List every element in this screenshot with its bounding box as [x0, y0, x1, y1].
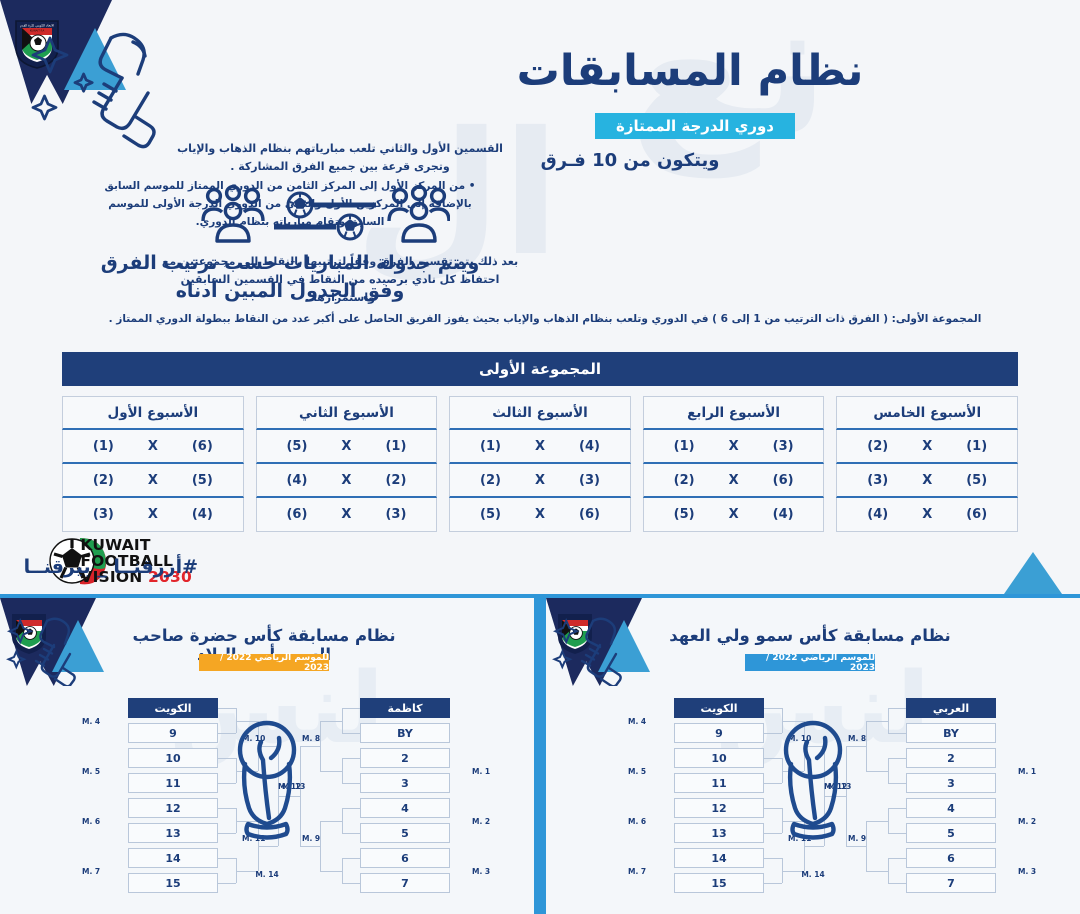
left-note-top: القسمين الأول والثاني تلعب مبارياتهم بنظ… [160, 140, 520, 176]
bracket-slot: BY [906, 723, 996, 743]
match-away: (2) [93, 473, 114, 488]
bracket-connector [342, 858, 343, 883]
match-home: (6) [192, 439, 213, 454]
bracket-connector [342, 708, 360, 709]
match-away: (6) [286, 507, 307, 522]
match-vs-symbol: X [535, 473, 545, 488]
panel-crown-prince-cup: لنس نظام مسابقة كأس سمو ولي العهدللموسم … [546, 598, 1080, 914]
bracket-connector [888, 708, 889, 733]
bracket-connector [888, 733, 906, 734]
match-row: (3)X(1) [643, 430, 825, 464]
week-column: الأسبوع الثاني(1)X(5)(2)X(4)(3)X(6) [256, 396, 438, 532]
bracket-connector [888, 708, 906, 709]
bracket-slot: 6 [906, 848, 996, 868]
bracket-slot: 3 [906, 773, 996, 793]
bracket-connector [342, 783, 360, 784]
bracket-slot: 2 [360, 748, 450, 768]
match-vs-symbol: X [341, 439, 351, 454]
panel-season-badge: للموسم الرياضي 2022 / 2023 [745, 654, 875, 671]
week-header: الأسبوع الثاني [256, 396, 438, 430]
group-header: المجموعة الأولى [62, 352, 1018, 386]
bracket-match-label: M. 9 [848, 834, 866, 843]
match-home: (3) [773, 439, 794, 454]
match-home: (6) [579, 507, 600, 522]
qualification-bullet-text: • من المركز الأول إلى المركز الثامن من ا… [90, 178, 490, 232]
match-away: (1) [93, 439, 114, 454]
bracket-connector [320, 721, 321, 771]
bracket-match-label: M. 1 [472, 767, 490, 776]
bracket-connector [888, 833, 906, 834]
bracket-connector [846, 746, 866, 747]
bracket-connector [866, 871, 888, 872]
match-home: (3) [579, 473, 600, 488]
match-row: (6)X(5) [449, 498, 631, 532]
week-column: الأسبوع الأول(6)X(1)(5)X(2)(4)X(3) [62, 396, 244, 532]
bracket-connector [888, 858, 889, 883]
match-row: (6)X(4) [836, 498, 1018, 532]
right-bracket: العربيBY234567M. 1M. 2M. 3M. 8M. 9M. 12 [546, 698, 1080, 914]
bracket-match-label: M. 1 [1018, 767, 1036, 776]
bracket-connector [888, 783, 906, 784]
match-away: (2) [480, 473, 501, 488]
bracket-slot: 4 [906, 798, 996, 818]
bracket-connector [866, 721, 888, 722]
bracket-slot: 2 [906, 748, 996, 768]
match-home: (6) [966, 507, 987, 522]
bracket-slot: BY [360, 723, 450, 743]
bracket-seed-team: كاظمة [360, 698, 450, 718]
bracket-connector [888, 758, 906, 759]
match-row: (1)X(5) [256, 430, 438, 464]
match-row: (3)X(6) [256, 498, 438, 532]
bracket-connector [342, 758, 360, 759]
panel-title: نظام مسابقة كأس سمو ولي العهد [660, 626, 960, 645]
teams-count-text: ويتكون من 10 فـرق [480, 150, 780, 171]
bracket-slot: 7 [360, 873, 450, 893]
bracket-connector [342, 708, 343, 733]
page-title: نظام المسابقات [410, 46, 970, 96]
week-header: الأسبوع الأول [62, 396, 244, 430]
week-header: الأسبوع الرابع [643, 396, 825, 430]
bracket-slot: 6 [360, 848, 450, 868]
match-vs-symbol: X [148, 439, 158, 454]
infographic-page: نع ال الاتحاد الكويتي لكرة القدم KUWAIT … [0, 0, 1080, 914]
match-away: (3) [93, 507, 114, 522]
match-row: (5)X(2) [62, 464, 244, 498]
bracket-connector [320, 721, 342, 722]
match-row: (3)X(2) [449, 464, 631, 498]
match-vs-symbol: X [729, 507, 739, 522]
fixtures-table: المجموعة الأولى الأسبوع الخامس(1)X(2)(5)… [62, 352, 1018, 532]
hashtag-text: #أزرقنــا _ بيرقنــا [24, 556, 198, 578]
premier-league-section: نع ال الاتحاد الكويتي لكرة القدم KUWAIT … [0, 0, 1080, 594]
bracket-connector [278, 796, 300, 797]
bracket-connector [342, 808, 343, 833]
blue-triangle-bottom-icon [1004, 552, 1062, 594]
match-away: (5) [480, 507, 501, 522]
bracket-connector [846, 846, 866, 847]
bracket-connector [320, 821, 321, 871]
bracket-match-label: M. 12 [278, 782, 301, 791]
match-away: (4) [286, 473, 307, 488]
bracket-connector [320, 871, 342, 872]
bracket-connector [846, 746, 847, 846]
bracket-connector [342, 858, 360, 859]
bracket-match-label: M. 2 [472, 817, 490, 826]
match-vs-symbol: X [922, 439, 932, 454]
match-home: (4) [192, 507, 213, 522]
trophy-icon [547, 612, 625, 686]
panel-amir-cup: لنس نظام مسابقة كأس حضرة صاحب السمو أمير… [0, 598, 534, 914]
bracket-slot: 3 [360, 773, 450, 793]
bracket-connector [342, 833, 360, 834]
match-home: (1) [966, 439, 987, 454]
bracket-match-label: M. 12 [824, 782, 847, 791]
panel-gap-divider [534, 598, 546, 914]
bracket-connector [866, 771, 888, 772]
match-away: (1) [480, 439, 501, 454]
week-column: الأسبوع الخامس(1)X(2)(5)X(3)(6)X(4) [836, 396, 1018, 532]
bracket-connector [866, 721, 867, 771]
bracket-connector [342, 808, 360, 809]
match-vs-symbol: X [341, 473, 351, 488]
bracket-connector [342, 883, 360, 884]
match-away: (2) [867, 439, 888, 454]
bracket-connector [824, 796, 846, 797]
league-badge: دوري الدرجة الممتازة [595, 113, 795, 139]
match-home: (5) [192, 473, 213, 488]
match-home: (4) [773, 507, 794, 522]
bracket-connector [888, 808, 906, 809]
match-vs-symbol: X [148, 507, 158, 522]
match-row: (1)X(2) [836, 430, 1018, 464]
bracket-slot: 5 [360, 823, 450, 843]
panel-season-badge: للموسم الرياضي 2022 / 2023 [199, 654, 329, 671]
bracket-connector [300, 846, 320, 847]
match-vs-symbol: X [922, 507, 932, 522]
bracket-connector [888, 858, 906, 859]
bracket-slot: 4 [360, 798, 450, 818]
week-header: الأسبوع الثالث [449, 396, 631, 430]
week-column: الأسبوع الثالث(4)X(1)(3)X(2)(6)X(5) [449, 396, 631, 532]
match-vs-symbol: X [729, 473, 739, 488]
match-row: (4)X(1) [449, 430, 631, 464]
bracket-match-label: M. 2 [1018, 817, 1036, 826]
match-vs-symbol: X [535, 439, 545, 454]
match-row: (5)X(3) [836, 464, 1018, 498]
match-away: (3) [867, 473, 888, 488]
week-column: الأسبوع الرابع(3)X(1)(6)X(2)(4)X(5) [643, 396, 825, 532]
match-vs-symbol: X [341, 507, 351, 522]
match-row: (4)X(3) [62, 498, 244, 532]
bracket-match-label: M. 3 [472, 867, 490, 876]
bracket-connector [888, 883, 906, 884]
match-vs-symbol: X [922, 473, 932, 488]
bracket-slot: 7 [906, 873, 996, 893]
trophy-icon [15, 22, 165, 152]
bracket-match-label: M. 3 [1018, 867, 1036, 876]
match-row: (6)X(1) [62, 430, 244, 464]
week-header: الأسبوع الخامس [836, 396, 1018, 430]
bracket-connector [866, 821, 867, 871]
match-vs-symbol: X [535, 507, 545, 522]
match-away: (5) [286, 439, 307, 454]
bracket-match-label: M. 8 [848, 734, 866, 743]
match-home: (1) [385, 439, 406, 454]
trophy-icon [1, 612, 79, 686]
match-home: (3) [385, 507, 406, 522]
bracket-connector [888, 808, 889, 833]
match-away: (4) [867, 507, 888, 522]
match-row: (4)X(5) [643, 498, 825, 532]
bracket-match-label: M. 8 [302, 734, 320, 743]
bracket-connector [320, 771, 342, 772]
right-bracket: كاظمةBY234567M. 1M. 2M. 3M. 8M. 9M. 12 [0, 698, 534, 914]
match-home: (4) [579, 439, 600, 454]
match-vs-symbol: X [729, 439, 739, 454]
bracket-connector [320, 821, 342, 822]
match-home: (2) [385, 473, 406, 488]
bracket-connector [342, 733, 360, 734]
bracket-connector [300, 746, 320, 747]
group-one-description: المجموعة الأولى: ( الفرق ذات الترتيب من … [70, 310, 1020, 328]
match-home: (5) [966, 473, 987, 488]
match-away: (1) [674, 439, 695, 454]
match-vs-symbol: X [148, 473, 158, 488]
bracket-slot: 5 [906, 823, 996, 843]
match-away: (2) [674, 473, 695, 488]
match-home: (6) [773, 473, 794, 488]
match-row: (6)X(2) [643, 464, 825, 498]
bracket-seed-team: العربي [906, 698, 996, 718]
bracket-connector [300, 746, 301, 846]
weeks-row: الأسبوع الخامس(1)X(2)(5)X(3)(6)X(4)الأسب… [62, 396, 1018, 532]
bracket-match-label: M. 9 [302, 834, 320, 843]
bracket-connector [342, 758, 343, 783]
bracket-connector [888, 758, 889, 783]
schedule-heading: ويتم جدولة المباريات حسب ترتيب الفرق وفق… [90, 250, 490, 305]
bracket-connector [866, 821, 888, 822]
match-row: (2)X(4) [256, 464, 438, 498]
match-away: (5) [674, 507, 695, 522]
